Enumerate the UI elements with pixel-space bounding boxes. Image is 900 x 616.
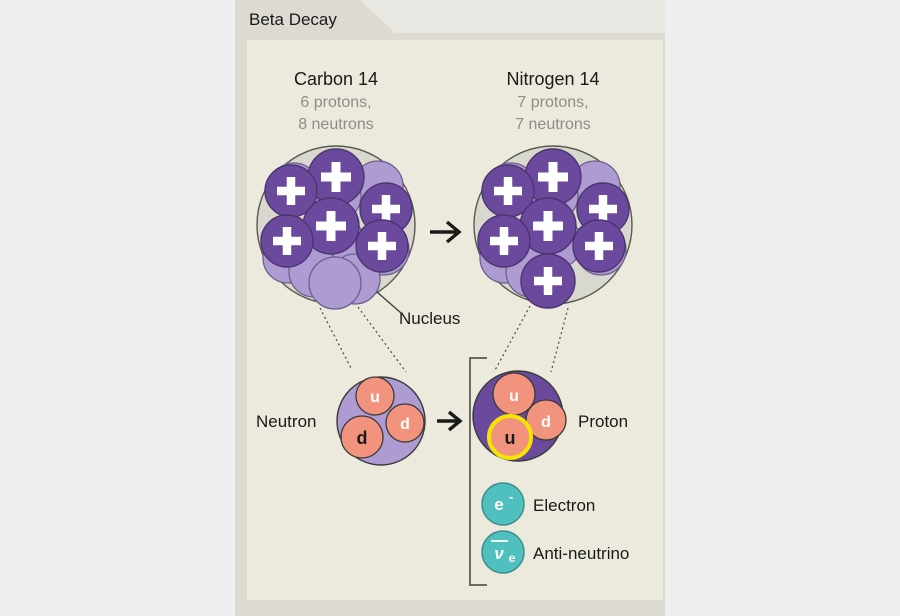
nucleus-0-neutrons: 8 neutrons bbox=[298, 116, 374, 133]
anti-neutrino-symbol: ν bbox=[494, 544, 504, 563]
electron-superscript: - bbox=[509, 489, 513, 504]
electron-label: Electron bbox=[533, 496, 595, 515]
anti-neutrino-subscript: e bbox=[509, 551, 516, 565]
proton-particle-new bbox=[521, 254, 575, 308]
proton-label: Proton bbox=[578, 412, 628, 431]
nucleus-1-name: Nitrogen 14 bbox=[506, 69, 599, 89]
quark-u-top: u bbox=[356, 377, 394, 415]
neutron-quark-model[interactable]: u d d bbox=[337, 377, 425, 465]
neutron-label: Neutron bbox=[256, 412, 316, 431]
proton-particle bbox=[356, 220, 408, 272]
nucleus-1-protons: 7 protons, bbox=[517, 94, 588, 111]
electron-symbol: e bbox=[494, 495, 503, 514]
nucleus-0-name: Carbon 14 bbox=[294, 69, 378, 89]
quark-symbol: d bbox=[400, 416, 410, 433]
quark-symbol: d bbox=[541, 414, 551, 431]
quark-symbol: d bbox=[357, 428, 368, 448]
diagram-stage: Beta Decay Carbon 14 6 protons, 8 neutro… bbox=[0, 0, 900, 616]
quark-symbol: u bbox=[370, 389, 380, 406]
quark-u-transformed: u bbox=[489, 416, 531, 458]
quark-u-top: u bbox=[493, 373, 535, 415]
proton-particle bbox=[573, 220, 625, 272]
nucleus-label: Nucleus bbox=[399, 309, 460, 328]
quark-symbol: u bbox=[509, 388, 519, 405]
page-title: Beta Decay bbox=[249, 10, 337, 29]
anti-neutrino-label: Anti-neutrino bbox=[533, 544, 629, 563]
proton-particle bbox=[478, 215, 530, 267]
neutron-particle bbox=[309, 257, 361, 309]
product-anti-neutrino[interactable]: ν e bbox=[482, 531, 524, 573]
nucleus-0-protons: 6 protons, bbox=[300, 94, 371, 111]
nucleus-1-neutrons: 7 neutrons bbox=[515, 116, 591, 133]
product-electron[interactable]: e - bbox=[482, 483, 524, 525]
quark-d-right: d bbox=[386, 404, 424, 442]
quark-d-highlight: d bbox=[341, 416, 383, 458]
proton-particle bbox=[261, 215, 313, 267]
quark-symbol: u bbox=[505, 428, 516, 448]
